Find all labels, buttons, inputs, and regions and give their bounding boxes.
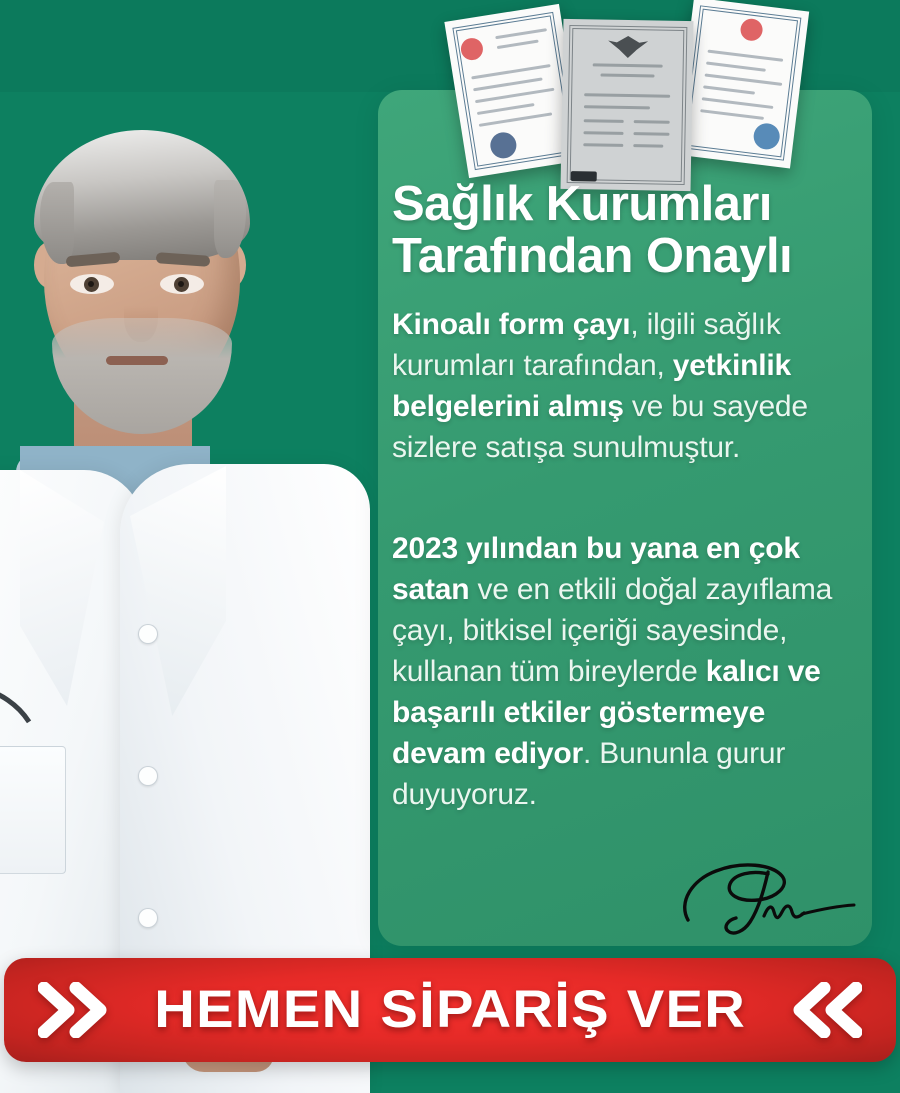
- doctor-portrait: [0, 46, 368, 1046]
- page-title: Sağlık Kurumları Tarafından Onaylı: [392, 178, 862, 282]
- certificate-center: [561, 19, 694, 191]
- headline-line-2: Tarafından Onaylı: [392, 229, 792, 283]
- order-now-button[interactable]: HEMEN SİPARİŞ VER: [4, 958, 896, 1062]
- headline-line-1: Sağlık Kurumları: [392, 177, 772, 231]
- doctor-hair: [34, 130, 250, 260]
- doctor-coat-button: [138, 766, 158, 786]
- copy-block: Sağlık Kurumları Tarafından Onaylı Kinoa…: [392, 178, 862, 815]
- doctor-mouth: [106, 356, 168, 365]
- paragraph-approval: Kinoalı form çayı, ilgili sağlık kurumla…: [392, 304, 862, 468]
- advertisement-root: Sağlık Kurumları Tarafından Onaylı Kinoa…: [0, 0, 900, 1093]
- double-chevron-right-icon: [38, 982, 112, 1038]
- order-now-label: HEMEN SİPARİŞ VER: [154, 958, 746, 1062]
- signature: [672, 858, 862, 940]
- doctor-coat-button: [138, 624, 158, 644]
- doctor-eye-right: [160, 274, 204, 294]
- certificate-right: [675, 0, 809, 168]
- doctor-coat-pocket: [0, 746, 66, 874]
- doctor-eye-left: [70, 274, 114, 294]
- certificate-stack: [452, 0, 792, 174]
- doctor-coat-button: [138, 908, 158, 928]
- paragraph-bestseller: 2023 yılından bu yana en çok satan ve en…: [392, 528, 862, 815]
- double-chevron-left-icon: [788, 982, 862, 1038]
